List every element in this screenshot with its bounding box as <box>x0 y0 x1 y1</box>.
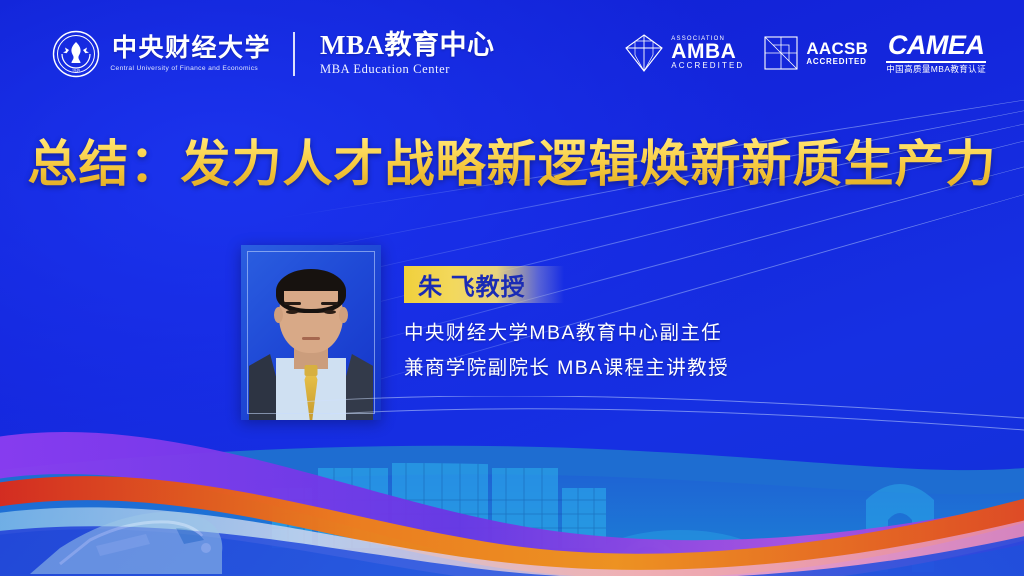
speaker-portrait <box>241 245 381 420</box>
university-name-cn: 中央财经大学 <box>112 36 271 62</box>
amba-line2: AMBA <box>671 42 744 62</box>
center-name-cn: MBA教育中心 <box>320 31 495 59</box>
slide-root: 1949 中央财经大学 Central University of Financ… <box>0 0 1024 576</box>
logo-divider <box>293 32 295 76</box>
bottom-decoration <box>0 396 1024 576</box>
camea-line2: 中国高质量MBA教育认证 <box>886 65 986 74</box>
speaker-name: 朱 飞教授 <box>404 267 526 302</box>
slide-header: 1949 中央财经大学 Central University of Financ… <box>0 0 1024 102</box>
speaker-titles: 中央财经大学MBA教育中心副主任 兼商学院副院长 MBA课程主讲教授 <box>404 316 729 386</box>
speaker-title-line-2: 兼商学院副院长 MBA课程主讲教授 <box>404 351 729 386</box>
camea-logo: CAMEA 中国高质量MBA教育认证 <box>886 32 986 74</box>
svg-text:1949: 1949 <box>72 68 80 73</box>
speaker-name-plate: 朱 飞教授 <box>404 266 564 303</box>
camea-line1: CAMEA <box>888 32 985 59</box>
university-seal-icon: 1949 <box>52 30 100 78</box>
amba-diamond-icon <box>623 32 665 74</box>
amba-line3: ACCREDITED <box>671 62 744 70</box>
aacsb-square-icon <box>762 34 800 72</box>
aacsb-line2: ACCREDITED <box>806 58 868 66</box>
accreditation-logos: ASSOCIATION AMBA ACCREDITED AACSB ACCRED… <box>623 32 986 74</box>
speaker-title-line-1: 中央财经大学MBA教育中心副主任 <box>404 316 729 351</box>
university-logo: 1949 中央财经大学 Central University of Financ… <box>52 30 495 78</box>
center-name-en: MBA Education Center <box>320 62 495 77</box>
university-name-en: Central University of Finance and Econom… <box>110 65 272 72</box>
amba-logo: ASSOCIATION AMBA ACCREDITED <box>623 32 744 74</box>
aacsb-line1: AACSB <box>806 40 868 57</box>
camea-rule <box>886 61 986 63</box>
aacsb-logo: AACSB ACCREDITED <box>762 34 868 72</box>
slide-title: 总结：发力人才战略新逻辑焕新新质生产力 <box>0 124 1024 196</box>
